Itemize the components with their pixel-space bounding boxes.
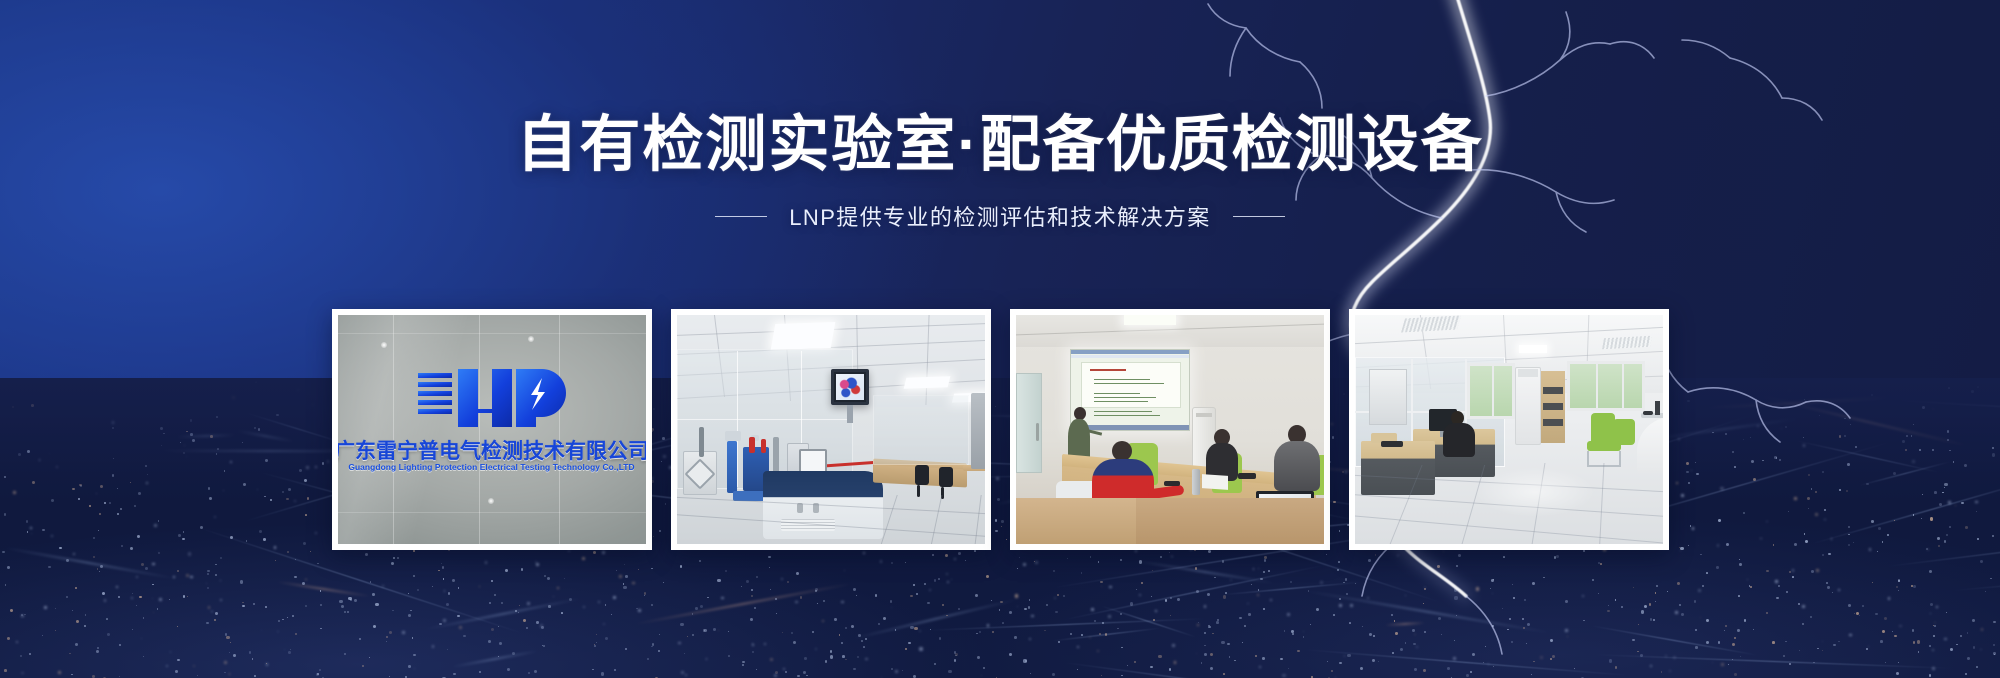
slide-text-line [1094, 401, 1148, 402]
hv-cap [725, 431, 741, 441]
page-title: 自有检测实验室·配备优质检测设备 [0, 112, 2000, 176]
chair-leg [917, 485, 920, 497]
window [1467, 363, 1515, 419]
page-subtitle: LNP提供专业的检测评估和技术解决方案 [789, 200, 1210, 232]
red-indicator [761, 439, 766, 453]
wall-panel-seam [393, 315, 394, 544]
hv-column [727, 441, 737, 493]
attendee-body [1274, 441, 1320, 491]
window-titlebar [1071, 350, 1189, 354]
ceiling-light [1124, 315, 1176, 325]
window-mullion [1596, 364, 1598, 408]
wood-floor-light [1016, 498, 1136, 544]
rule-right-decoration [1233, 216, 1285, 217]
hero-text-block: 自有检测实验室·配备优质检测设备 LNP提供专业的检测评估和技术解决方案 [0, 112, 2000, 232]
photo-office [1355, 315, 1663, 544]
ac-vent [1196, 413, 1212, 417]
red-indicator [749, 437, 755, 453]
slide-text-line [1094, 415, 1160, 416]
gallery-item-company-sign[interactable]: 广东雷宁普电气检测技术有限公司 Guangdong Lighting Prote… [332, 309, 652, 550]
counter-item [1643, 411, 1653, 415]
phone [1238, 473, 1256, 479]
ceiling-light [1519, 345, 1547, 353]
gallery-strip: 广东雷宁普电气检测技术有限公司 Guangdong Lighting Prote… [0, 309, 2000, 550]
shelf-items [1543, 419, 1563, 426]
wall-highlight [338, 333, 646, 334]
floor-sunlight [1475, 467, 1595, 517]
lab-cabinet [1369, 369, 1407, 425]
projection-screen [1070, 349, 1190, 431]
slide-text-line [1094, 411, 1152, 412]
ceiling-reflection [528, 336, 534, 342]
ceiling-light [770, 322, 835, 350]
phone [1164, 481, 1180, 486]
control-screen [799, 449, 827, 473]
slide-text-line [1094, 397, 1156, 398]
slide-title [1090, 369, 1126, 371]
tall-cabinet [1515, 367, 1541, 445]
door-handle [1036, 423, 1039, 441]
employee-body [1443, 423, 1475, 457]
hero-banner: 自有检测实验室·配备优质检测设备 LNP提供专业的检测评估和技术解决方案 [0, 0, 2000, 678]
window-toolbar [1071, 355, 1189, 358]
floor-grid [1355, 516, 1663, 544]
shelf-items [1543, 387, 1563, 394]
cabinet-vent [1518, 369, 1538, 377]
work-desk [1361, 441, 1435, 495]
ceiling-reflection [488, 498, 494, 504]
office-chair [939, 467, 953, 487]
window-mullion [1622, 364, 1624, 408]
shelf-items [1543, 403, 1563, 410]
ceiling-light [903, 376, 950, 389]
gallery-item-office[interactable] [1349, 309, 1669, 550]
corridor-wall [971, 393, 985, 469]
wall-highlight [338, 512, 646, 513]
attendee-head [1112, 441, 1132, 461]
company-name-cn: 广东雷宁普电气检测技术有限公司 [338, 435, 646, 465]
floor-grid [1598, 463, 1604, 544]
slide-text-line [1094, 383, 1164, 384]
floor-grid [928, 495, 942, 544]
window [1567, 361, 1645, 411]
visitor-chair [1591, 413, 1615, 443]
monitor-screen [836, 374, 864, 400]
window-mullion [1492, 366, 1494, 416]
glass-mullion [677, 419, 853, 420]
thermos [1192, 469, 1200, 495]
photo-meeting-room [1016, 315, 1324, 544]
gallery-item-meeting-room[interactable] [1010, 309, 1330, 550]
rule-left-decoration [715, 216, 767, 217]
desk-item [1381, 441, 1403, 447]
reception-counter [1637, 417, 1663, 473]
slide-text-line [1094, 379, 1150, 380]
slide-area [1081, 362, 1181, 408]
photo-company-sign: 广东雷宁普电气检测技术有限公司 Guangdong Lighting Prote… [338, 315, 646, 544]
notebook [1202, 474, 1228, 490]
subtitle-row: LNP提供专业的检测评估和技术解决方案 [0, 200, 2000, 232]
slide-text-line [1094, 393, 1140, 394]
monitor-mount [847, 405, 853, 423]
floor-grid [973, 495, 981, 544]
lnp-logo-icon [416, 365, 568, 431]
office-chair [915, 465, 929, 485]
gallery-item-laboratory[interactable] [671, 309, 991, 550]
photo-laboratory [677, 315, 985, 544]
glass-partition [873, 395, 969, 465]
company-name-en: Guangdong Lighting Protection Electrical… [348, 462, 634, 472]
support-rod [699, 427, 704, 457]
wall-monitor [831, 369, 869, 405]
visitor-chair [1613, 419, 1635, 445]
counter-item [1655, 401, 1660, 415]
